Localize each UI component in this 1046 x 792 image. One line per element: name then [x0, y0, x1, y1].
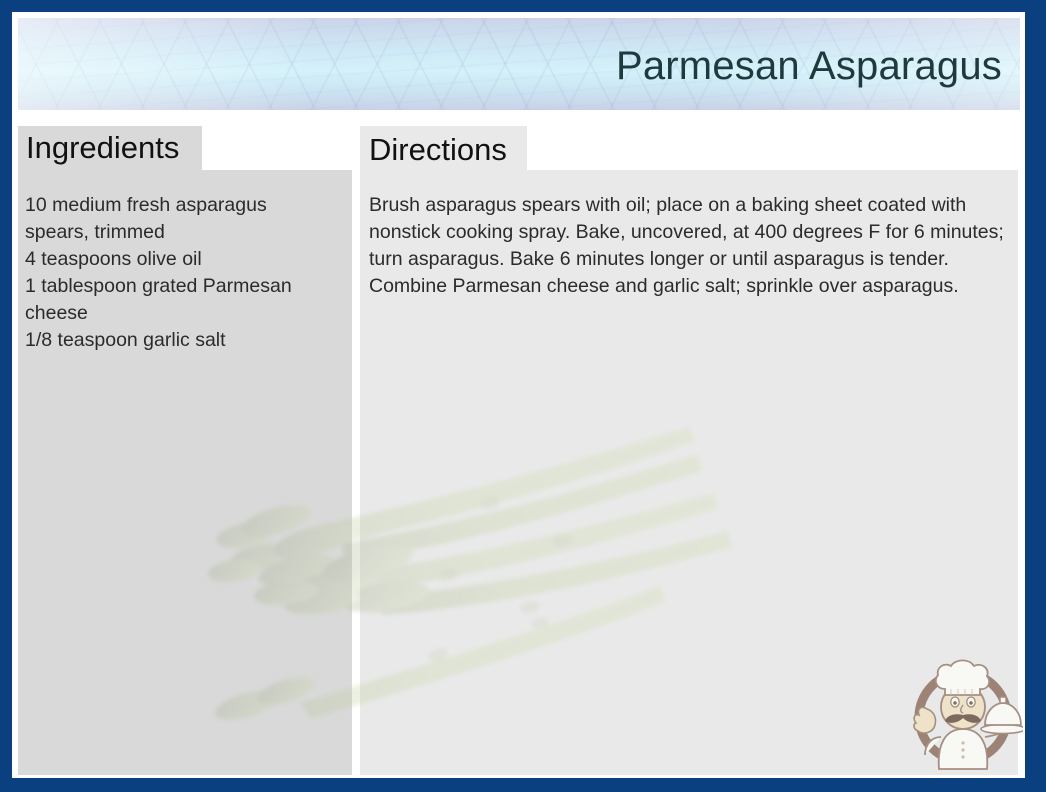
frame-border-bottom — [0, 778, 1046, 792]
directions-heading: Directions — [369, 132, 507, 168]
header-banner: Parmesan Asparagus — [18, 18, 1020, 110]
ingredients-list: 10 medium fresh asparagus spears, trimme… — [25, 192, 330, 354]
ingredients-heading: Ingredients — [26, 130, 179, 166]
frame-border-right — [1025, 0, 1046, 792]
directions-text: Brush asparagus spears with oil; place o… — [369, 192, 1014, 300]
page-title: Parmesan Asparagus — [616, 44, 1002, 89]
chef-logo — [903, 645, 1023, 777]
frame-border-top — [0, 0, 1046, 12]
frame-border-left — [0, 0, 12, 792]
recipe-slide: Parmesan Asparagus Ingredients 10 medium… — [0, 0, 1046, 792]
